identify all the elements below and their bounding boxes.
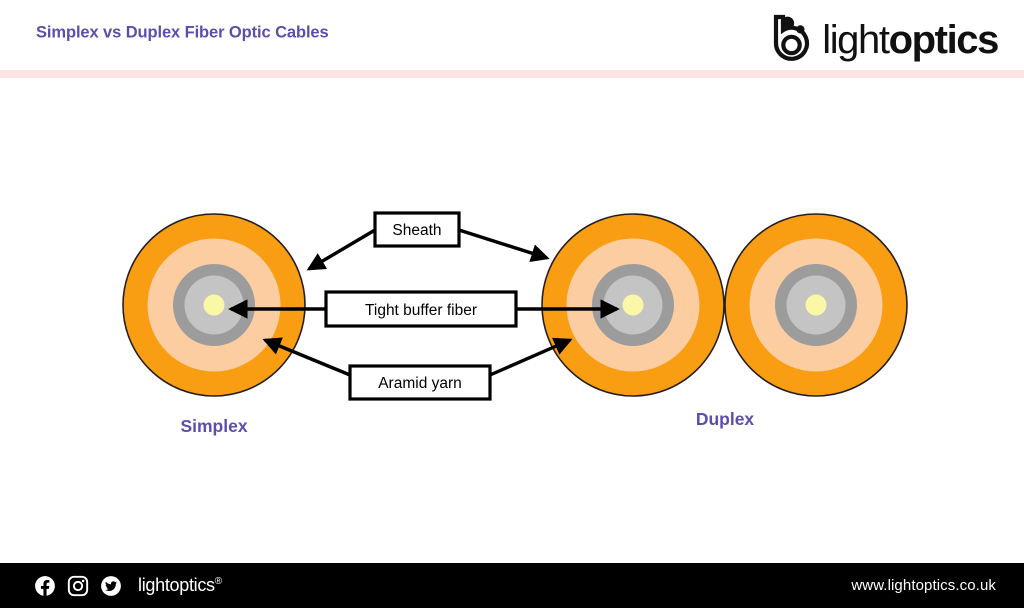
brand-word-light: light — [822, 18, 888, 62]
footer-registered-mark: ® — [215, 576, 222, 587]
label-box-sheath[interactable]: Sheath — [375, 213, 459, 246]
footer-website-url[interactable]: www.lightoptics.co.uk — [851, 563, 996, 608]
sheath-arrow-left — [309, 230, 375, 269]
footer-brand: lightoptics® — [138, 575, 222, 596]
fiber-cable-diagram: Sheath Tight buffer fiber Aramid yarn Si… — [0, 78, 1024, 555]
duplex-left-fiber-core — [623, 295, 644, 316]
brand-word-optics: optics — [889, 18, 998, 62]
facebook-icon[interactable] — [34, 575, 56, 597]
simplex-fiber-core — [204, 295, 225, 316]
duplex-cable — [542, 214, 907, 396]
page-title: Simplex vs Duplex Fiber Optic Cables — [36, 24, 329, 43]
footer-brand-text: lightoptics — [138, 575, 215, 595]
label-tight-buffer-fiber-text: Tight buffer fiber — [365, 302, 477, 319]
simplex-cable — [123, 214, 305, 396]
twitter-icon[interactable] — [100, 575, 122, 597]
caption-simplex: Simplex — [180, 416, 247, 436]
page-footer: lightoptics® www.lightoptics.co.uk — [0, 563, 1024, 608]
slide-page: Simplex vs Duplex Fiber Optic Cables lig… — [0, 0, 1024, 608]
page-header: Simplex vs Duplex Fiber Optic Cables lig… — [0, 0, 1024, 70]
label-sheath-text: Sheath — [392, 222, 441, 239]
diagram-area: Sheath Tight buffer fiber Aramid yarn Si… — [0, 78, 1024, 555]
sheath-arrow-right — [459, 230, 547, 258]
instagram-icon[interactable] — [67, 575, 89, 597]
duplex-right-fiber-core — [806, 295, 827, 316]
lightoptics-circle-mark-icon — [763, 13, 819, 63]
brand-logo[interactable]: lightoptics — [763, 10, 998, 66]
caption-duplex: Duplex — [696, 409, 755, 429]
brand-wordmark: lightoptics — [822, 20, 998, 60]
header-divider — [0, 70, 1024, 78]
label-box-aramid-yarn[interactable]: Aramid yarn — [350, 366, 490, 399]
label-aramid-yarn-text: Aramid yarn — [378, 375, 462, 392]
label-box-tight-buffer-fiber[interactable]: Tight buffer fiber — [326, 292, 516, 326]
footer-social-group: lightoptics® — [34, 563, 222, 608]
